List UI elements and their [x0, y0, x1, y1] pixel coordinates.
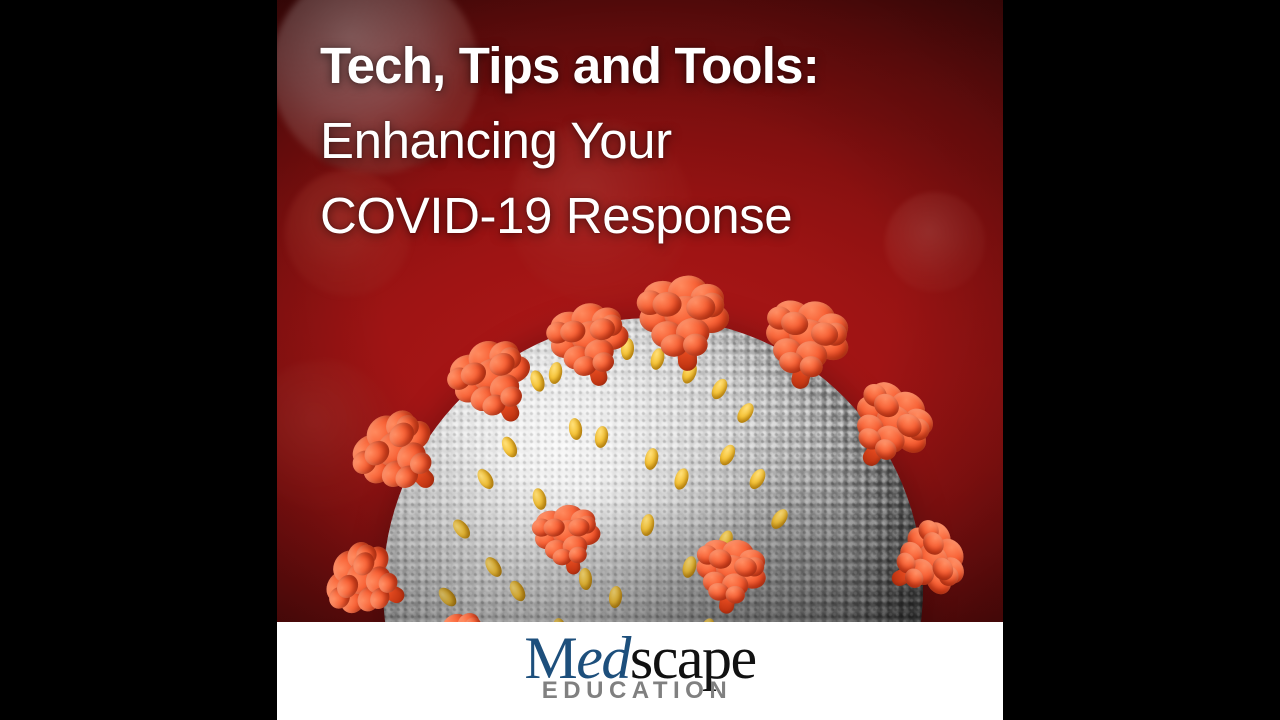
logo-subtitle: EDUCATION	[542, 679, 732, 703]
spike-protein	[529, 500, 609, 580]
thumbnail-panel: Tech, Tips and Tools: Enhancing Your COV…	[277, 0, 1003, 720]
page-title: Tech, Tips and Tools: Enhancing Your COV…	[320, 28, 980, 253]
right-letterbox	[1003, 0, 1280, 720]
spike-protein	[754, 292, 861, 399]
spike-protein	[636, 274, 736, 374]
video-frame: Tech, Tips and Tools: Enhancing Your COV…	[0, 0, 1280, 720]
spike-protein	[542, 296, 642, 396]
left-letterbox	[0, 0, 277, 720]
title-line-3: COVID-19 Response	[320, 178, 980, 253]
title-line-2: Enhancing Your	[320, 103, 980, 178]
brand-footer: Medscape EDUCATION	[277, 622, 1003, 720]
title-line-1: Tech, Tips and Tools:	[320, 28, 980, 103]
coronavirus-illustration	[383, 318, 923, 622]
spike-protein	[687, 533, 775, 621]
